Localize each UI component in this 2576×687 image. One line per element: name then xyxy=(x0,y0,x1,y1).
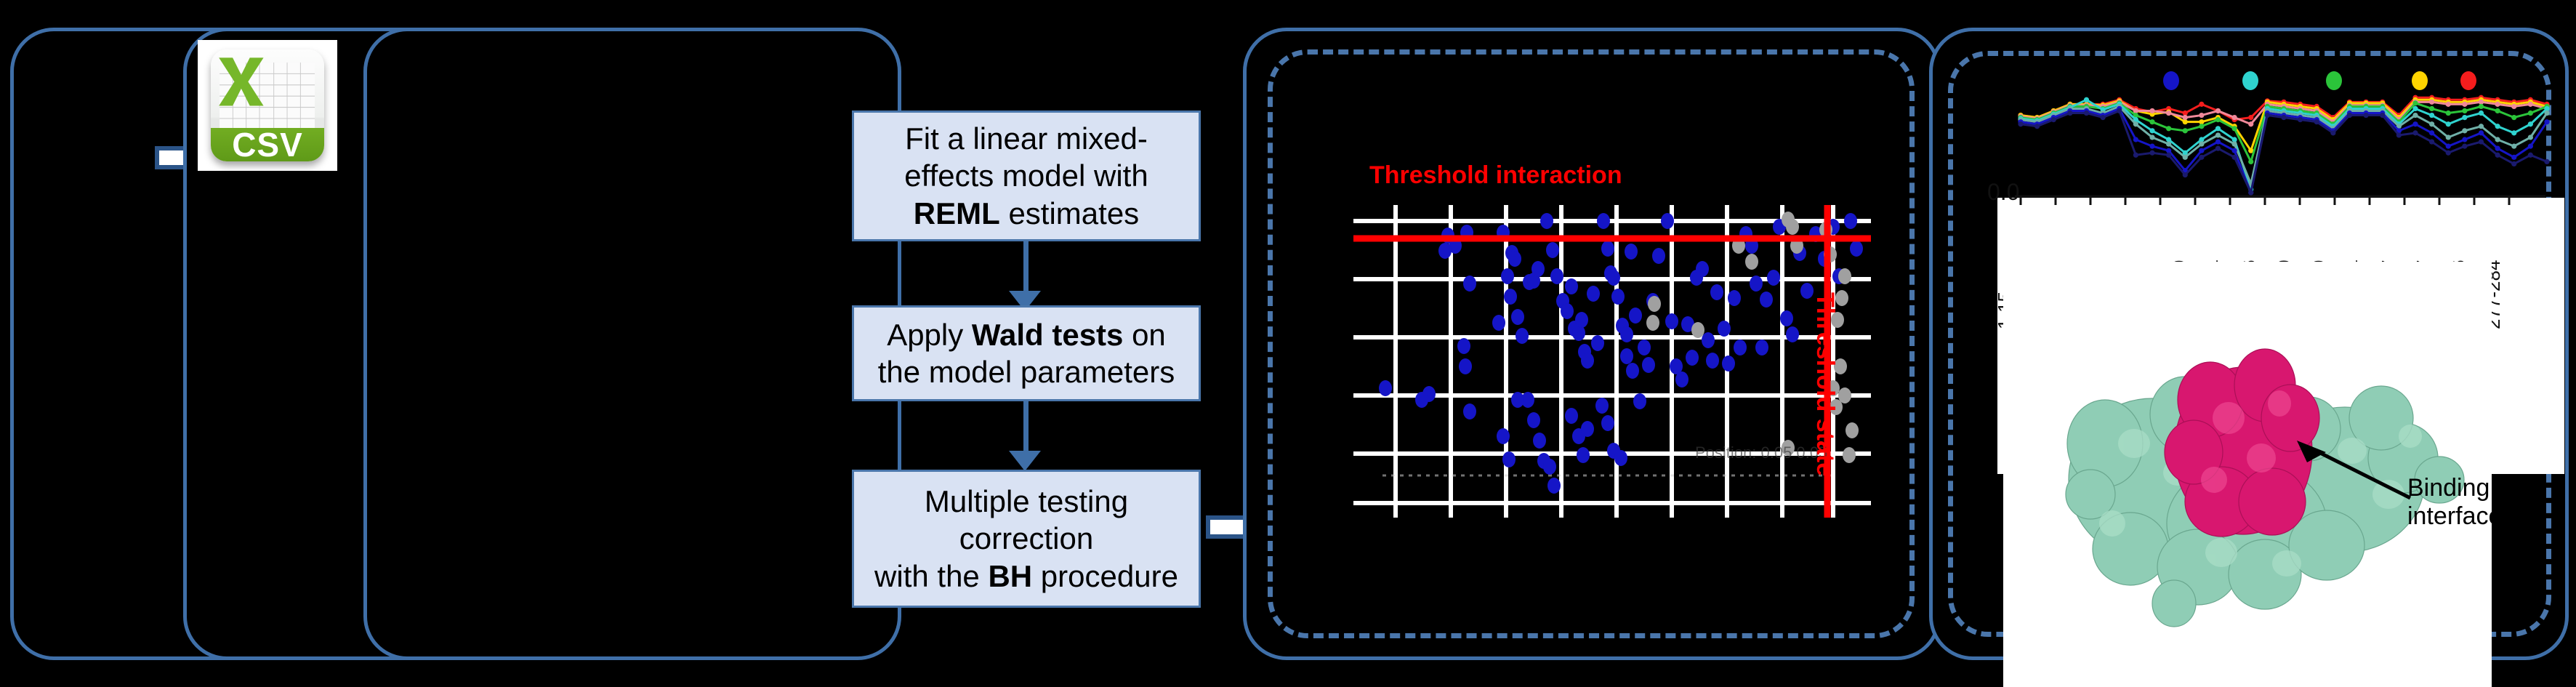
point-series-navy xyxy=(2166,153,2171,158)
point-series-blue xyxy=(2199,148,2204,153)
point-series-cyan xyxy=(2462,115,2467,120)
csv-icon: CSV xyxy=(211,49,324,161)
point-series-blue xyxy=(2133,137,2138,142)
point-series-navy xyxy=(2314,119,2319,124)
point-series-navy xyxy=(2034,124,2040,129)
point-series-navy xyxy=(2364,113,2369,118)
flow-step-fit-model-text: Fit a linear mixed- effects model with R… xyxy=(904,120,1148,232)
threshold-state-label: Threshold state xyxy=(1811,292,1839,476)
threshold-interaction-label: Threshold interaction xyxy=(1369,161,1622,190)
point-series-green xyxy=(2528,111,2533,116)
point-series-navy xyxy=(2281,115,2286,120)
point-series-navy xyxy=(2511,161,2516,166)
point-series-pink xyxy=(2183,115,2188,120)
point-series-green xyxy=(2462,108,2467,113)
flow-step-wald-tests-text: Apply Wald tests on the model parameters xyxy=(878,316,1175,390)
point-series-pink xyxy=(2232,115,2237,120)
point-series-cyan xyxy=(2446,121,2451,126)
point-series-pink xyxy=(2429,100,2434,105)
flow-step-wald-tests[interactable]: Apply Wald tests on the model parameters xyxy=(852,305,1201,401)
point-series-navy xyxy=(2067,111,2072,116)
point-series-green xyxy=(2232,126,2237,131)
point-series-teal xyxy=(2232,141,2237,146)
point-series-green xyxy=(2149,119,2154,124)
point-series-green xyxy=(2479,104,2484,109)
point-series-navy xyxy=(2544,159,2549,164)
point-series-navy xyxy=(2298,117,2303,122)
point-series-teal xyxy=(2479,124,2484,129)
point-series-navy xyxy=(2396,132,2402,137)
point-series-navy xyxy=(2232,155,2237,160)
point-series-pink xyxy=(2199,113,2204,118)
point-series-cyan xyxy=(2429,113,2434,118)
point-series-green xyxy=(2183,128,2188,133)
point-series-teal xyxy=(2446,134,2451,140)
point-series-navy xyxy=(2462,144,2467,149)
flow-step-fit-model[interactable]: Fit a linear mixed- effects model with R… xyxy=(852,111,1201,241)
svg-text:Position: 0.05 0.05: Position: 0.05 0.05 xyxy=(1695,443,1827,462)
point-series-green xyxy=(2199,124,2204,129)
point-series-navy xyxy=(2412,130,2418,135)
point-series-green xyxy=(2495,108,2500,113)
point-series-navy xyxy=(2265,113,2270,118)
point-series-navy xyxy=(2330,130,2335,135)
point-series-blue xyxy=(2446,144,2451,149)
point-series-red xyxy=(2199,102,2204,107)
excel-x-icon xyxy=(215,56,267,108)
point-series-blue xyxy=(2462,137,2467,142)
point-series-pink xyxy=(2462,102,2467,107)
point-series-navy xyxy=(2528,153,2533,158)
point-series-pink xyxy=(2215,108,2221,113)
point-series-teal xyxy=(2215,132,2221,137)
point-series-pink xyxy=(2149,108,2154,113)
line-series-blue xyxy=(2021,108,2547,193)
point-series-teal xyxy=(2183,155,2188,160)
workflow-diagram: CSV Fit a linear mixed- effects model wi… xyxy=(0,0,2576,687)
peptide-x-axis xyxy=(2015,195,2576,206)
point-series-pink xyxy=(2166,111,2171,116)
point-series-green xyxy=(2166,126,2171,131)
point-series-navy xyxy=(2479,139,2484,144)
point-series-pink xyxy=(2248,121,2253,126)
point-series-green xyxy=(2248,159,2253,164)
line-series-navy xyxy=(2021,111,2547,192)
point-series-navy xyxy=(2117,108,2122,113)
point-series-navy xyxy=(2101,115,2106,120)
point-series-teal xyxy=(2462,128,2467,133)
peptide-line-chart[interactable] xyxy=(2000,80,2575,198)
point-series-cyan xyxy=(2215,126,2221,131)
binding-interface-annotation: Binding interface xyxy=(2407,474,2492,531)
point-series-navy xyxy=(2051,117,2056,122)
point-series-teal xyxy=(2528,134,2533,140)
point-series-blue xyxy=(2232,148,2237,153)
point-series-pink xyxy=(2528,102,2533,107)
csv-file-card: CSV xyxy=(198,40,337,171)
point-series-navy xyxy=(2495,153,2500,158)
point-series-teal xyxy=(2511,144,2516,149)
point-series-green xyxy=(2511,115,2516,120)
point-series-cyan xyxy=(2511,130,2516,135)
point-series-blue xyxy=(2149,144,2154,149)
point-series-green xyxy=(2412,100,2418,105)
point-series-navy xyxy=(2149,150,2154,156)
point-series-navy xyxy=(2133,153,2138,158)
point-series-cyan xyxy=(2149,128,2154,133)
point-series-green xyxy=(2215,117,2221,122)
point-series-teal xyxy=(2149,134,2154,140)
point-series-navy xyxy=(2446,150,2451,156)
point-series-green xyxy=(2446,111,2451,116)
point-series-navy xyxy=(2018,121,2023,126)
point-series-pink xyxy=(2495,102,2500,107)
point-series-blue xyxy=(2412,121,2418,126)
point-series-cyan xyxy=(2084,97,2089,103)
point-series-navy xyxy=(2380,113,2385,118)
panel-statistical-model[interactable] xyxy=(363,28,901,660)
point-series-blue xyxy=(2528,144,2533,149)
point-series-teal xyxy=(2166,141,2171,146)
point-series-cyan xyxy=(2528,121,2533,126)
scatter-plot[interactable]: Position: 0.05 0.05 Threshold state xyxy=(1353,205,1871,518)
scatter-plot-canvas[interactable]: Position: 0.05 0.05 xyxy=(1353,205,1871,518)
point-series-navy xyxy=(2183,172,2188,177)
point-series-navy xyxy=(2215,146,2221,151)
point-series-teal xyxy=(2412,113,2418,118)
point-series-blue xyxy=(2479,130,2484,135)
point-series-teal xyxy=(2495,137,2500,142)
peptide-line-chart-canvas[interactable] xyxy=(2000,80,2575,198)
point-series-navy xyxy=(2084,111,2089,116)
point-series-cyan xyxy=(2412,106,2418,111)
csv-format-label: CSV xyxy=(211,128,324,161)
point-series-teal xyxy=(2199,141,2204,146)
point-series-blue xyxy=(2429,130,2434,135)
point-series-green xyxy=(2429,106,2434,111)
point-series-cyan xyxy=(2479,111,2484,116)
point-series-blue xyxy=(2511,155,2516,160)
point-series-teal xyxy=(2429,121,2434,126)
flow-step-bh-correction[interactable]: Multiple testing correction with the BH … xyxy=(852,470,1201,608)
point-series-red xyxy=(2248,115,2253,120)
point-series-blue xyxy=(2495,146,2500,151)
point-series-navy xyxy=(2199,155,2204,160)
protein-structure-figure[interactable]: Binding interface xyxy=(2003,262,2492,687)
point-series-navy xyxy=(2429,139,2434,144)
point-series-teal xyxy=(2133,121,2138,126)
point-series-teal xyxy=(2544,111,2549,116)
point-series-blue xyxy=(2544,119,2549,124)
point-series-pink xyxy=(2511,104,2516,109)
point-series-navy xyxy=(2347,113,2352,118)
point-series-pink xyxy=(2446,102,2451,107)
point-series-cyan xyxy=(2495,124,2500,129)
point-series-blue xyxy=(2215,139,2221,144)
flow-step-bh-correction-text: Multiple testing correction with the BH … xyxy=(874,483,1178,595)
